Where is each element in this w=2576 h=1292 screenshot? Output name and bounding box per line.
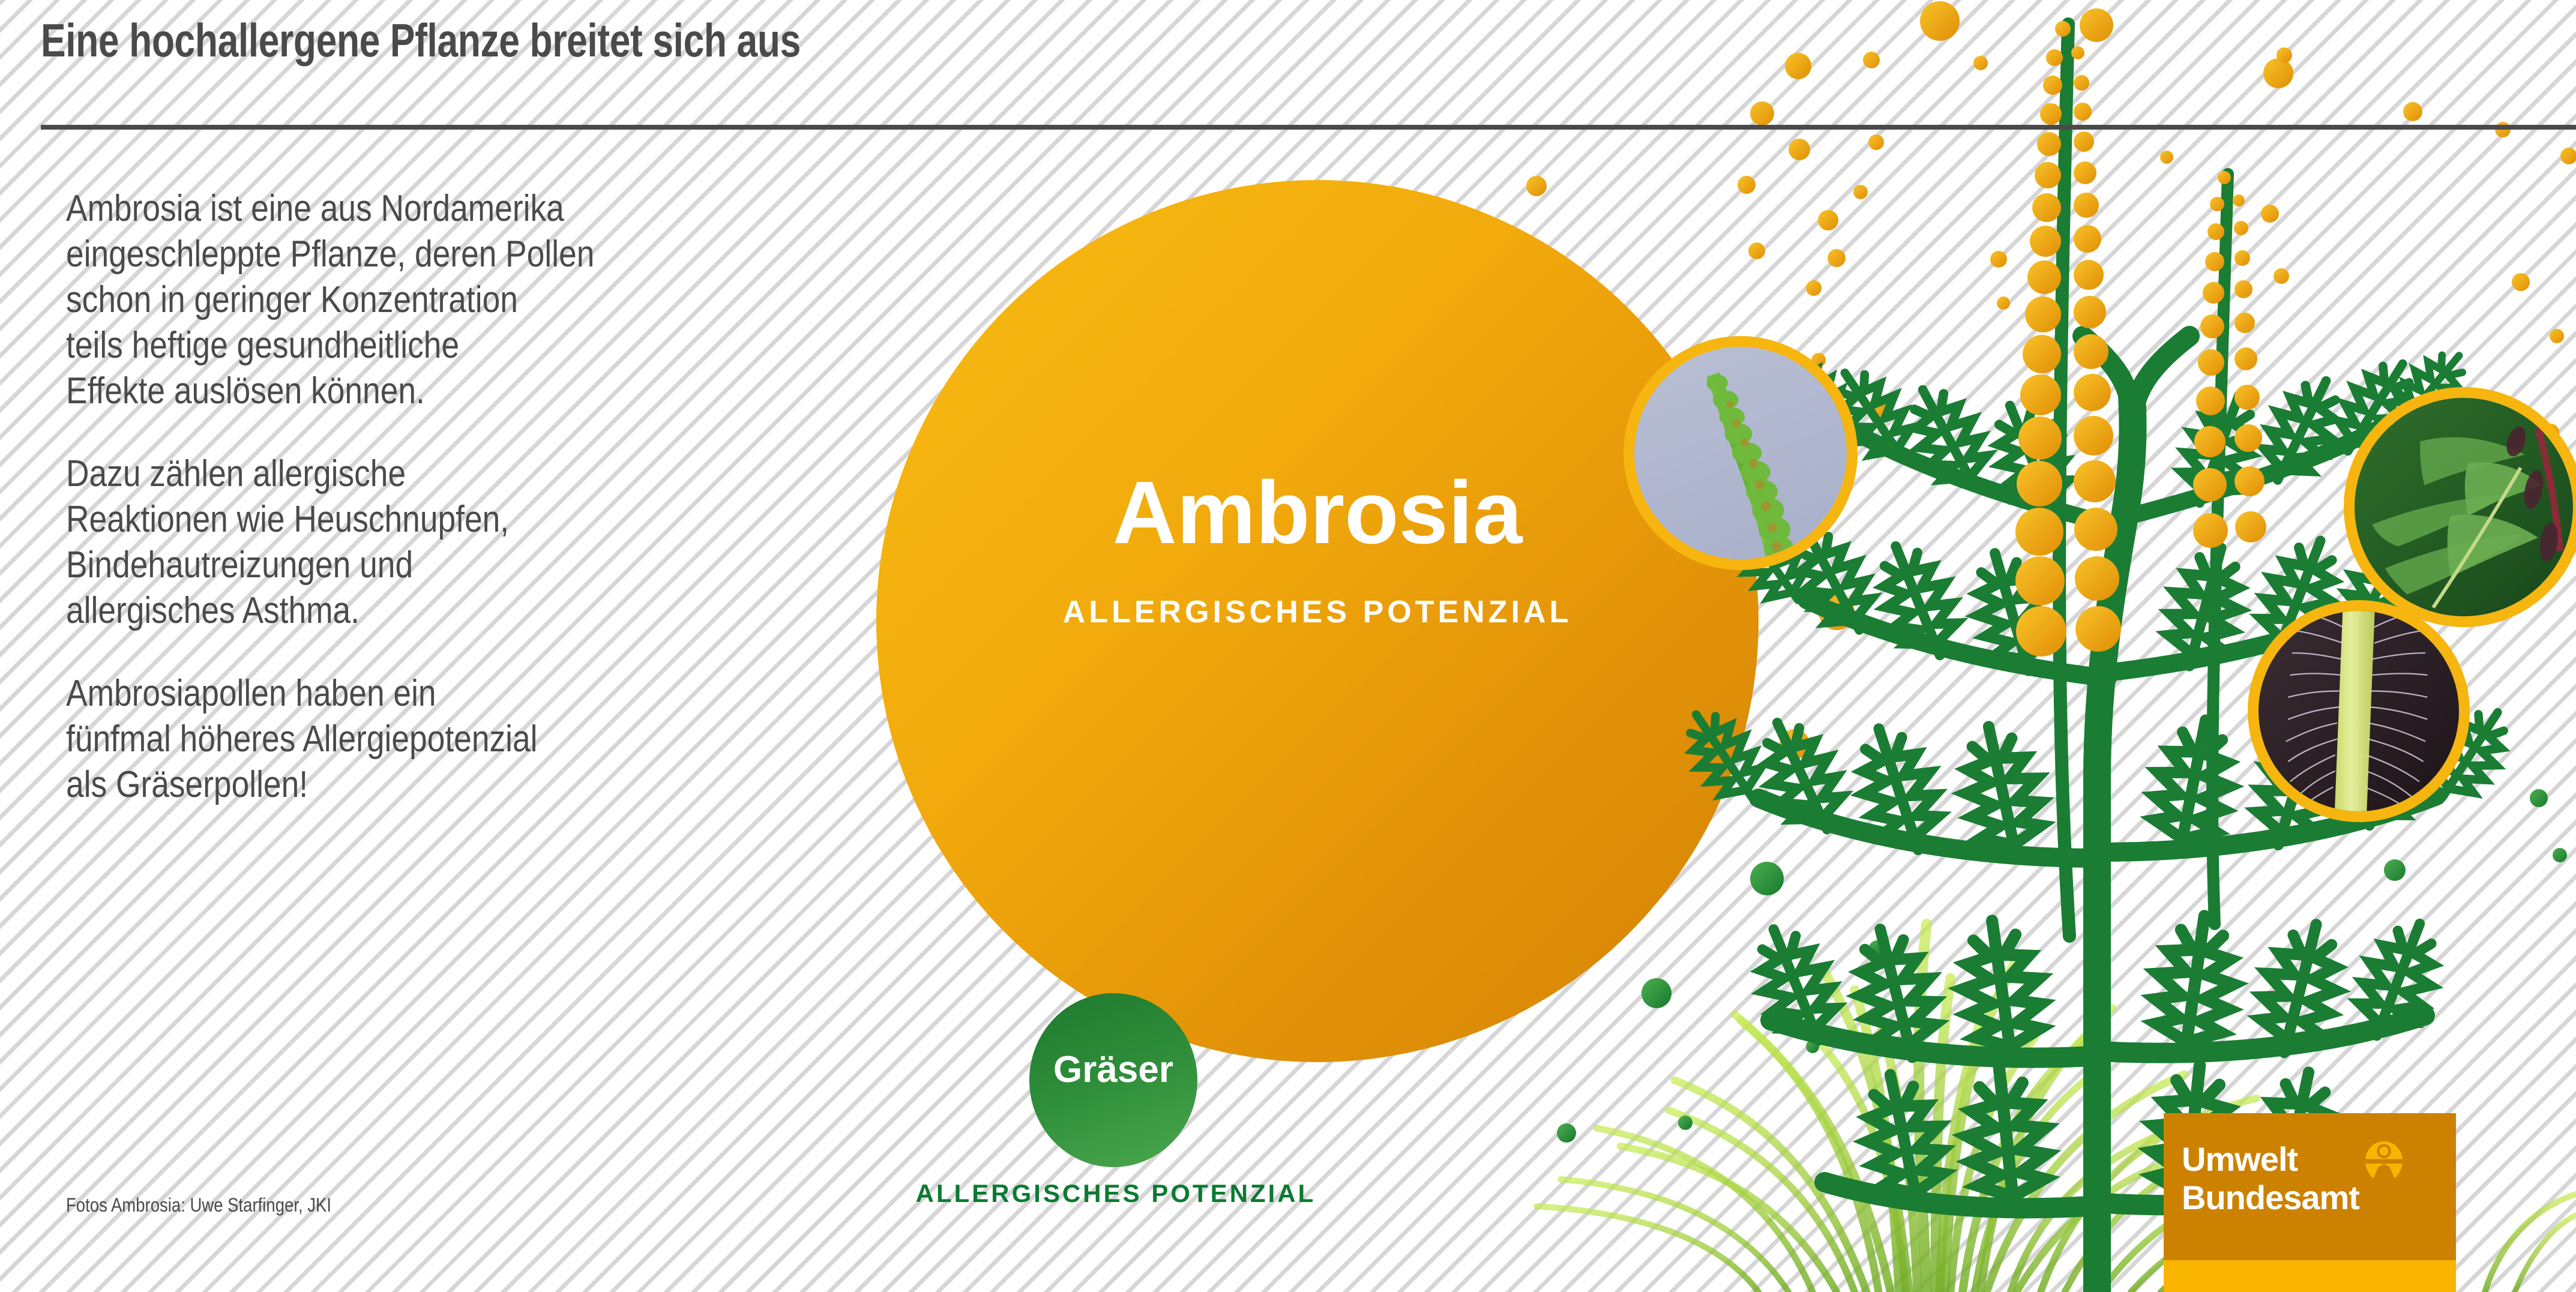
header-divider: [41, 125, 2576, 130]
infographic-canvas: Ambrosia ALLERGISCHES POTENZIAL Gräser A…: [0, 0, 2576, 1292]
graeser-bubble: Gräser: [1029, 993, 1197, 1167]
paragraph-1: Ambrosia ist eine aus Nordamerika einges…: [66, 186, 840, 414]
photo-ambrosia-hairy-stem: [2248, 600, 2470, 822]
uba-figure-icon: [2362, 1140, 2406, 1184]
paragraph-3: Ambrosiapollen haben ein fünfmal höheres…: [66, 671, 840, 808]
logo-bottom-band: [2164, 1260, 2456, 1292]
graeser-bubble-label: Gräser: [1029, 1048, 1197, 1091]
umweltbundesamt-logo: Umwelt Bundesamt: [2164, 1113, 2456, 1260]
photo-ambrosia-flower-spike: [1624, 336, 1858, 570]
photo-credit: Fotos Ambrosia: Uwe Starfinger, JKI: [66, 1194, 331, 1216]
page-title: Eine hochallergene Pflanze breitet sich …: [41, 13, 801, 68]
logo-line-1: Umwelt: [2182, 1142, 2298, 1177]
photo-ambrosia-leaf: [2344, 387, 2576, 627]
graeser-caption: ALLERGISCHES POTENZIAL: [855, 1179, 1377, 1208]
body-copy: Ambrosia ist eine aus Nordamerika einges…: [66, 186, 966, 845]
logo-line-2: Bundesamt: [2182, 1180, 2359, 1215]
paragraph-2: Dazu zählen allergische Reaktionen wie H…: [66, 451, 840, 634]
